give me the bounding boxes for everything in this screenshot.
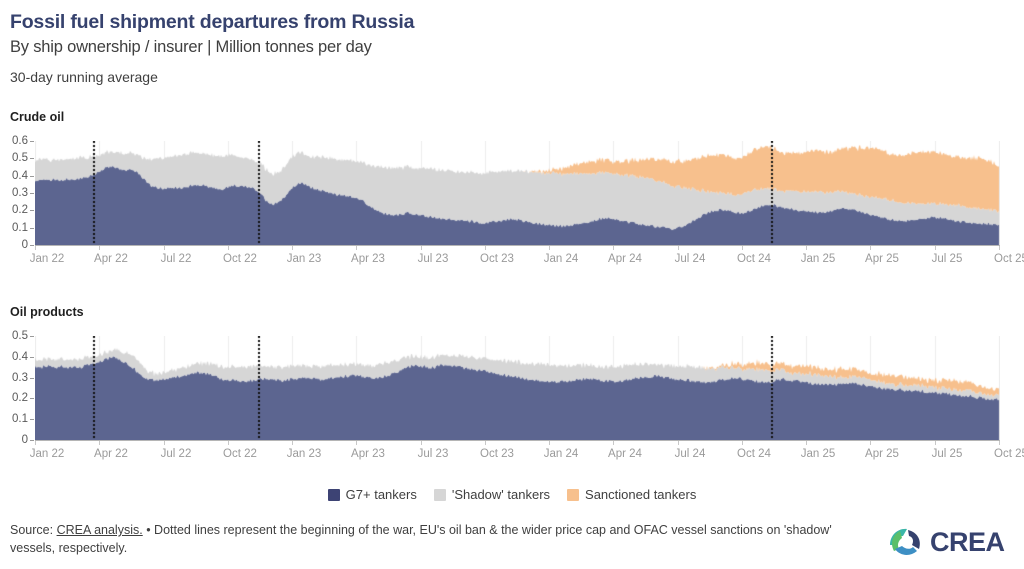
x-axis-tick bbox=[870, 441, 871, 445]
y-axis-tick bbox=[30, 440, 34, 441]
y-axis-label: 0.2 bbox=[2, 204, 28, 216]
x-axis-label: Jan 22 bbox=[30, 253, 65, 265]
x-axis-label: Jul 24 bbox=[675, 448, 706, 460]
page-title: Fossil fuel shipment departures from Rus… bbox=[10, 11, 414, 34]
x-axis-tick bbox=[742, 246, 743, 250]
y-axis-tick bbox=[30, 378, 34, 379]
x-axis-tick bbox=[292, 441, 293, 445]
x-axis-label: Apr 22 bbox=[94, 448, 128, 460]
x-axis-label: Oct 22 bbox=[223, 253, 257, 265]
x-axis-tick bbox=[999, 441, 1000, 445]
x-axis-tick bbox=[870, 246, 871, 250]
source-prefix: Source: bbox=[10, 523, 57, 537]
legend-item-shadow[interactable]: 'Shadow' tankers bbox=[434, 487, 550, 502]
x-axis-tick bbox=[485, 441, 486, 445]
source-link[interactable]: CREA analysis. bbox=[57, 523, 143, 537]
y-axis-label: 0 bbox=[2, 434, 28, 446]
x-axis-label: Apr 22 bbox=[94, 253, 128, 265]
crea-logo-mark bbox=[886, 524, 926, 558]
x-axis-tick bbox=[99, 246, 100, 250]
x-axis-label: Jul 23 bbox=[418, 253, 449, 265]
x-axis-label: Jul 22 bbox=[161, 448, 192, 460]
x-axis-tick bbox=[935, 246, 936, 250]
x-axis-tick bbox=[356, 441, 357, 445]
x-axis-tick bbox=[806, 246, 807, 250]
crea-logo-text: CREA bbox=[930, 527, 1005, 558]
x-axis-label: Oct 24 bbox=[737, 448, 771, 460]
x-axis-label: Jul 24 bbox=[675, 253, 706, 265]
panel-title-crude-oil: Crude oil bbox=[10, 110, 64, 124]
x-axis-tick bbox=[228, 441, 229, 445]
legend-label-shadow: 'Shadow' tankers bbox=[452, 487, 550, 502]
y-axis-label: 0.3 bbox=[2, 372, 28, 384]
legend-item-sanctioned[interactable]: Sanctioned tankers bbox=[567, 487, 696, 502]
x-axis-tick bbox=[678, 441, 679, 445]
x-axis-label: Apr 25 bbox=[865, 448, 899, 460]
y-axis-tick bbox=[30, 245, 34, 246]
y-axis-tick bbox=[30, 357, 34, 358]
y-axis-tick bbox=[30, 398, 34, 399]
x-axis-tick bbox=[35, 441, 36, 445]
x-axis-tick bbox=[613, 441, 614, 445]
x-axis-label: Oct 25 bbox=[994, 253, 1024, 265]
x-axis-label: Jan 23 bbox=[287, 253, 322, 265]
x-axis-tick bbox=[613, 246, 614, 250]
y-axis-tick bbox=[30, 419, 34, 420]
x-axis-tick bbox=[421, 441, 422, 445]
x-axis-label: Oct 22 bbox=[223, 448, 257, 460]
x-axis-tick bbox=[228, 246, 229, 250]
y-axis-tick bbox=[30, 336, 34, 337]
x-axis-label: Apr 24 bbox=[608, 448, 642, 460]
x-axis-label: Oct 23 bbox=[480, 253, 514, 265]
y-axis-tick bbox=[30, 210, 34, 211]
x-axis-tick bbox=[164, 246, 165, 250]
x-axis-tick bbox=[99, 441, 100, 445]
legend-swatch-g7 bbox=[328, 489, 340, 501]
x-axis-line bbox=[35, 440, 1000, 441]
x-axis-label: Jan 23 bbox=[287, 448, 322, 460]
legend-label-sanctioned: Sanctioned tankers bbox=[585, 487, 696, 502]
x-axis-tick bbox=[485, 246, 486, 250]
legend-label-g7: G7+ tankers bbox=[346, 487, 417, 502]
x-axis-tick bbox=[35, 246, 36, 250]
y-axis-label: 0.1 bbox=[2, 413, 28, 425]
legend-item-g7[interactable]: G7+ tankers bbox=[328, 487, 417, 502]
x-axis-tick bbox=[549, 246, 550, 250]
y-axis-label: 0.4 bbox=[2, 351, 28, 363]
crea-logo: CREA bbox=[886, 521, 1016, 561]
x-axis-tick bbox=[999, 246, 1000, 250]
y-axis-tick bbox=[30, 176, 34, 177]
x-axis-label: Jan 22 bbox=[30, 448, 65, 460]
x-axis-label: Apr 24 bbox=[608, 253, 642, 265]
x-axis-label: Oct 23 bbox=[480, 448, 514, 460]
x-axis-tick bbox=[421, 246, 422, 250]
y-axis-label: 0.6 bbox=[2, 135, 28, 147]
x-axis-label: Oct 25 bbox=[994, 448, 1024, 460]
y-axis-label: 0.1 bbox=[2, 222, 28, 234]
chart-page: Fossil fuel shipment departures from Rus… bbox=[0, 0, 1024, 569]
x-axis-label: Apr 23 bbox=[351, 253, 385, 265]
y-axis-label: 0.2 bbox=[2, 392, 28, 404]
y-axis-tick bbox=[30, 193, 34, 194]
x-axis-tick bbox=[292, 246, 293, 250]
x-axis-line bbox=[35, 245, 1000, 246]
chart-crude-oil bbox=[35, 141, 1000, 245]
x-axis-label: Jul 23 bbox=[418, 448, 449, 460]
x-axis-tick bbox=[935, 441, 936, 445]
y-axis-tick bbox=[30, 141, 34, 142]
x-axis-label: Jan 25 bbox=[801, 253, 836, 265]
x-axis-label: Apr 23 bbox=[351, 448, 385, 460]
legend-swatch-shadow bbox=[434, 489, 446, 501]
x-axis-label: Jul 25 bbox=[932, 253, 963, 265]
x-axis-label: Jul 25 bbox=[932, 448, 963, 460]
y-axis-label: 0 bbox=[2, 239, 28, 251]
x-axis-label: Jan 25 bbox=[801, 448, 836, 460]
legend-swatch-sanctioned bbox=[567, 489, 579, 501]
y-axis-label: 0.4 bbox=[2, 170, 28, 182]
x-axis-tick bbox=[164, 441, 165, 445]
footer-note: Source: CREA analysis. • Dotted lines re… bbox=[10, 521, 840, 557]
chart-oil-products bbox=[35, 336, 1000, 440]
page-subtitle: By ship ownership / insurer | Million to… bbox=[10, 38, 372, 57]
y-axis-tick bbox=[30, 158, 34, 159]
y-axis-label: 0.5 bbox=[2, 330, 28, 342]
x-axis-tick bbox=[742, 441, 743, 445]
x-axis-label: Apr 25 bbox=[865, 253, 899, 265]
x-axis-tick bbox=[678, 246, 679, 250]
chart-legend: G7+ tankers 'Shadow' tankers Sanctioned … bbox=[0, 487, 1024, 502]
y-axis-label: 0.3 bbox=[2, 187, 28, 199]
panel-title-oil-products: Oil products bbox=[10, 305, 84, 319]
x-axis-label: Jan 24 bbox=[544, 448, 579, 460]
x-axis-tick bbox=[806, 441, 807, 445]
x-axis-tick bbox=[549, 441, 550, 445]
x-axis-tick bbox=[356, 246, 357, 250]
x-axis-label: Jan 24 bbox=[544, 253, 579, 265]
page-note: 30-day running average bbox=[10, 69, 158, 85]
y-axis-tick bbox=[30, 228, 34, 229]
x-axis-label: Oct 24 bbox=[737, 253, 771, 265]
y-axis-label: 0.5 bbox=[2, 152, 28, 164]
x-axis-label: Jul 22 bbox=[161, 253, 192, 265]
